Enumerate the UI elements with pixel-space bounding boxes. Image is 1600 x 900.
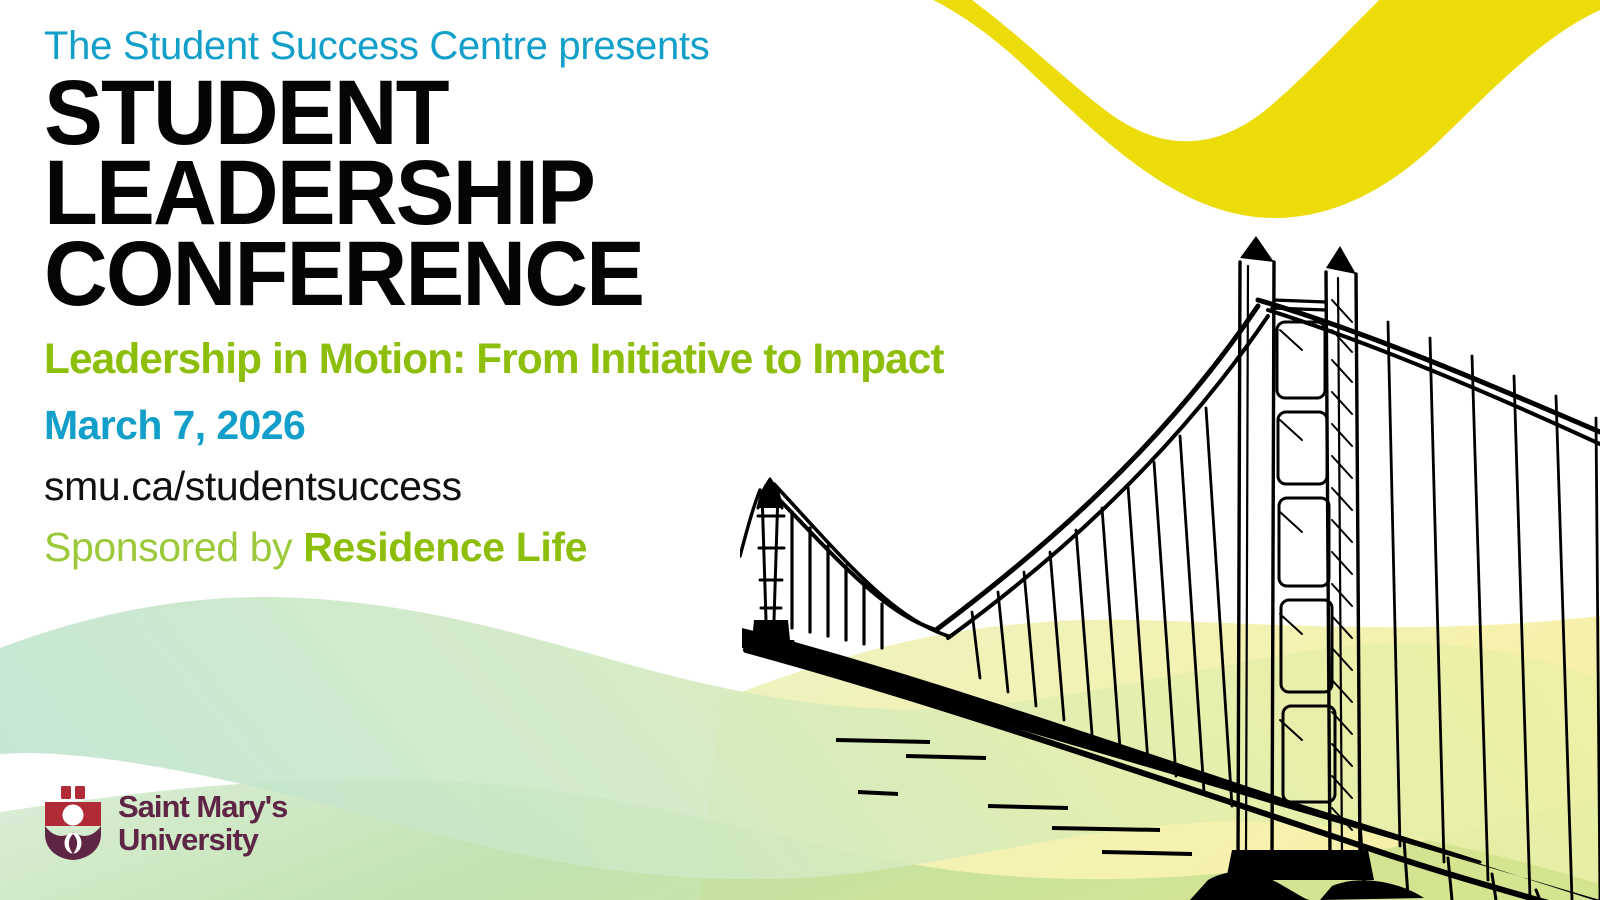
poster-canvas: The Student Success Centre presents STUD…	[0, 0, 1600, 900]
sponsor-line: Sponsored by Residence Life	[44, 527, 1184, 568]
headline-line-3: CONFERENCE	[44, 234, 1138, 315]
conference-theme-subtitle: Leadership in Motion: From Initiative to…	[44, 338, 1167, 381]
presents-line: The Student Success Centre presents	[44, 26, 1184, 67]
smu-crest-icon	[42, 786, 104, 860]
main-headline: STUDENT LEADERSHIP CONFERENCE	[44, 73, 1184, 315]
headline-line-2: LEADERSHIP	[44, 153, 1138, 234]
sponsor-prefix: Sponsored by	[44, 524, 303, 570]
smu-wordmark: Saint Mary's University	[118, 791, 287, 855]
headline-line-1: STUDENT	[44, 73, 1138, 154]
pale-yellow-landmass	[700, 616, 1600, 900]
smu-wordmark-line-2: University	[118, 824, 287, 855]
event-url-link[interactable]: smu.ca/studentsuccess	[44, 466, 1184, 507]
smu-wordmark-line-1: Saint Mary's	[118, 791, 287, 822]
saint-marys-university-logo[interactable]: Saint Mary's University	[42, 786, 287, 860]
event-date: March 7, 2026	[44, 405, 1184, 446]
sponsor-name: Residence Life	[303, 524, 587, 570]
poster-text-block: The Student Success Centre presents STUD…	[44, 26, 1184, 568]
